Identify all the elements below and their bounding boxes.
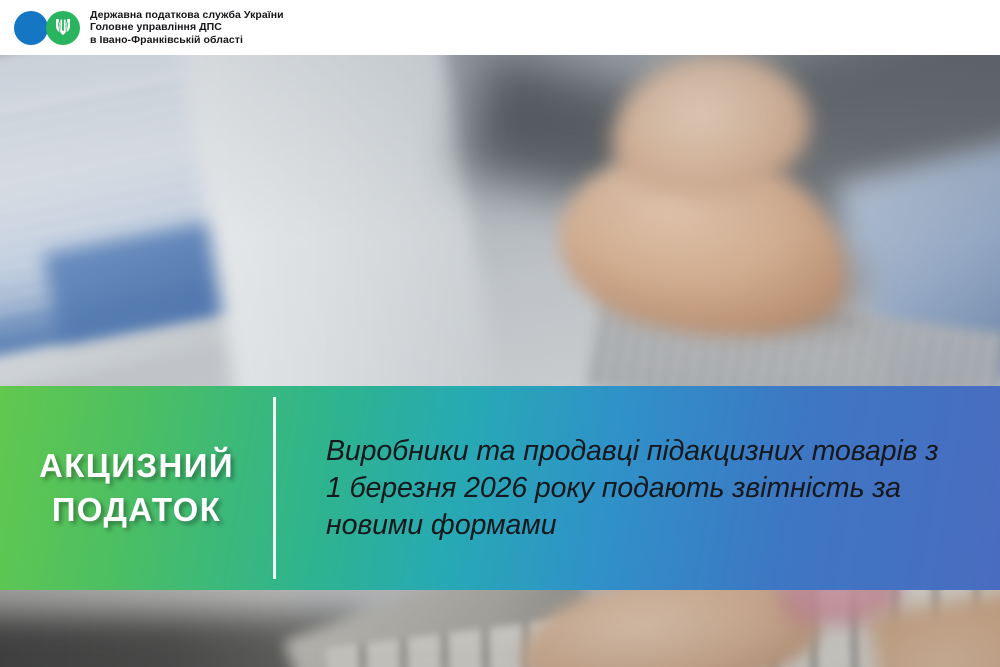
banner-tag-label: АКЦИЗНИЙ ПОДАТОК	[39, 444, 234, 532]
topic-banner: АКЦИЗНИЙ ПОДАТОК Виробники та продавці п…	[0, 386, 1000, 590]
ukrainian-trident-icon	[55, 18, 71, 38]
banner-tag-area: АКЦИЗНИЙ ПОДАТОК	[0, 386, 273, 590]
banner-tag-line-2: ПОДАТОК	[39, 488, 234, 532]
org-line-3: в Івано-Франківській області	[90, 34, 284, 47]
org-line-1: Державна податкова служба України	[90, 9, 284, 22]
org-line-2: Головне управління ДПС	[90, 21, 284, 34]
logo-blue-circle-icon	[14, 11, 48, 45]
organization-title: Державна податкова служба України Головн…	[90, 9, 284, 47]
banner-headline-area: Виробники та продавці підакцизних товарі…	[276, 433, 1000, 544]
dps-logo	[14, 9, 82, 47]
news-banner-page: Державна податкова служба України Головн…	[0, 0, 1000, 667]
site-header: Державна податкова служба України Головн…	[0, 0, 1000, 55]
banner-headline: Виробники та продавці підакцизних товарі…	[326, 433, 960, 544]
banner-tag-line-1: АКЦИЗНИЙ	[39, 444, 234, 488]
